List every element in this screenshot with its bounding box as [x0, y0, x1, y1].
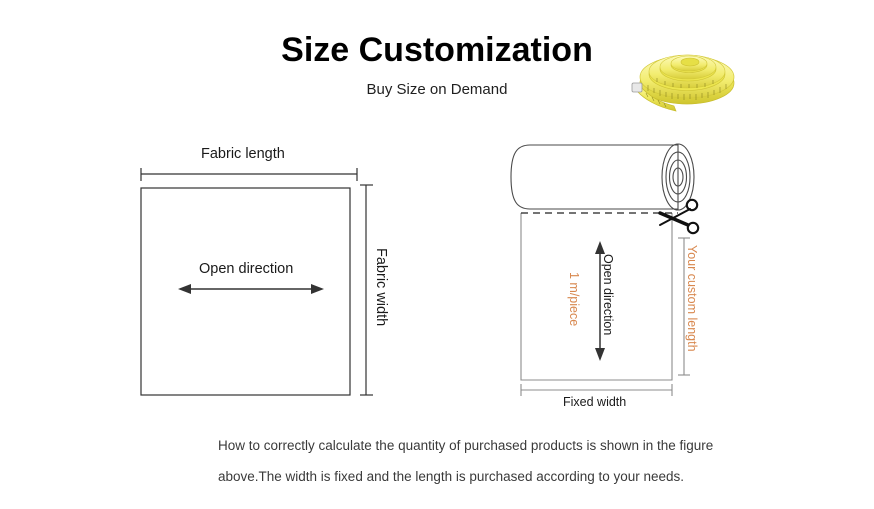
fabric-width-label: Fabric width [374, 248, 389, 326]
fabric-piece-diagram: Fabric length Fabric width Open directio… [130, 140, 400, 415]
per-piece-label: 1 m/piece [568, 272, 581, 326]
open-direction-label-left: Open direction [199, 262, 293, 277]
fabric-length-measure [141, 168, 357, 181]
custom-length-label: Your custom length [686, 245, 699, 352]
caption-line-2: above.The width is fixed and the length … [218, 469, 684, 484]
fabric-length-label: Fabric length [201, 147, 285, 162]
caption-line-1: How to correctly calculate the quantity … [218, 438, 713, 453]
caption-text: How to correctly calculate the quantity … [218, 430, 738, 492]
fabric-rectangle [141, 188, 350, 395]
fixed-width-label: Fixed width [563, 396, 626, 409]
fabric-sheet [521, 213, 672, 380]
open-direction-label-right: Open direction [602, 254, 615, 335]
measuring-tape-image [624, 33, 742, 116]
roll-cylinder [511, 145, 678, 209]
page-subtitle: Buy Size on Demand [0, 82, 874, 97]
fabric-width-measure [360, 185, 373, 395]
size-customization-infographic: Size Customization Buy Size on Demand [0, 0, 874, 509]
page-title: Size Customization [0, 33, 874, 67]
fabric-roll-diagram: Open direction 1 m/piece Your custom len… [500, 135, 740, 420]
